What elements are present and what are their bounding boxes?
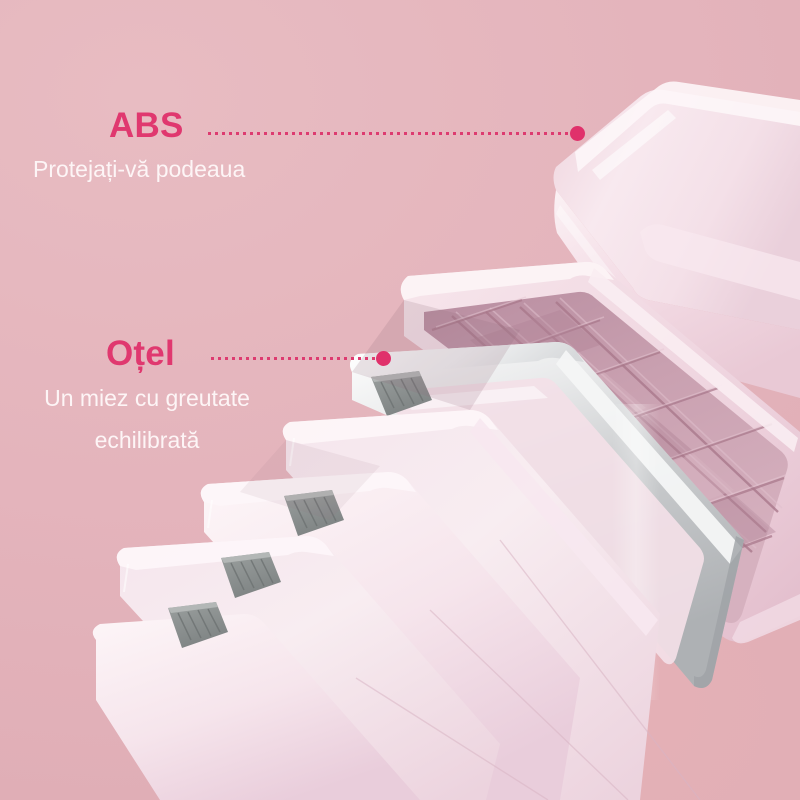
callout-steel-subtitle-line1: Un miez cu greutate (33, 384, 261, 413)
leader-line-steel (211, 357, 375, 360)
leader-line-abs (208, 132, 570, 135)
callout-abs: ABS Protejați-vă podeaua (33, 108, 245, 184)
callout-steel-title: Oțel (106, 336, 261, 371)
callout-steel-subtitle-line2: echilibrată (33, 426, 261, 455)
callout-steel: Oțel Un miez cu greutate echilibrată (33, 336, 261, 455)
callout-abs-title: ABS (109, 108, 245, 143)
leader-dot-abs (570, 126, 585, 141)
callout-abs-subtitle: Protejați-vă podeaua (33, 155, 245, 184)
leader-dot-steel (376, 351, 391, 366)
product-infographic-canvas: ABS Protejați-vă podeaua Oțel Un miez cu… (0, 0, 800, 800)
